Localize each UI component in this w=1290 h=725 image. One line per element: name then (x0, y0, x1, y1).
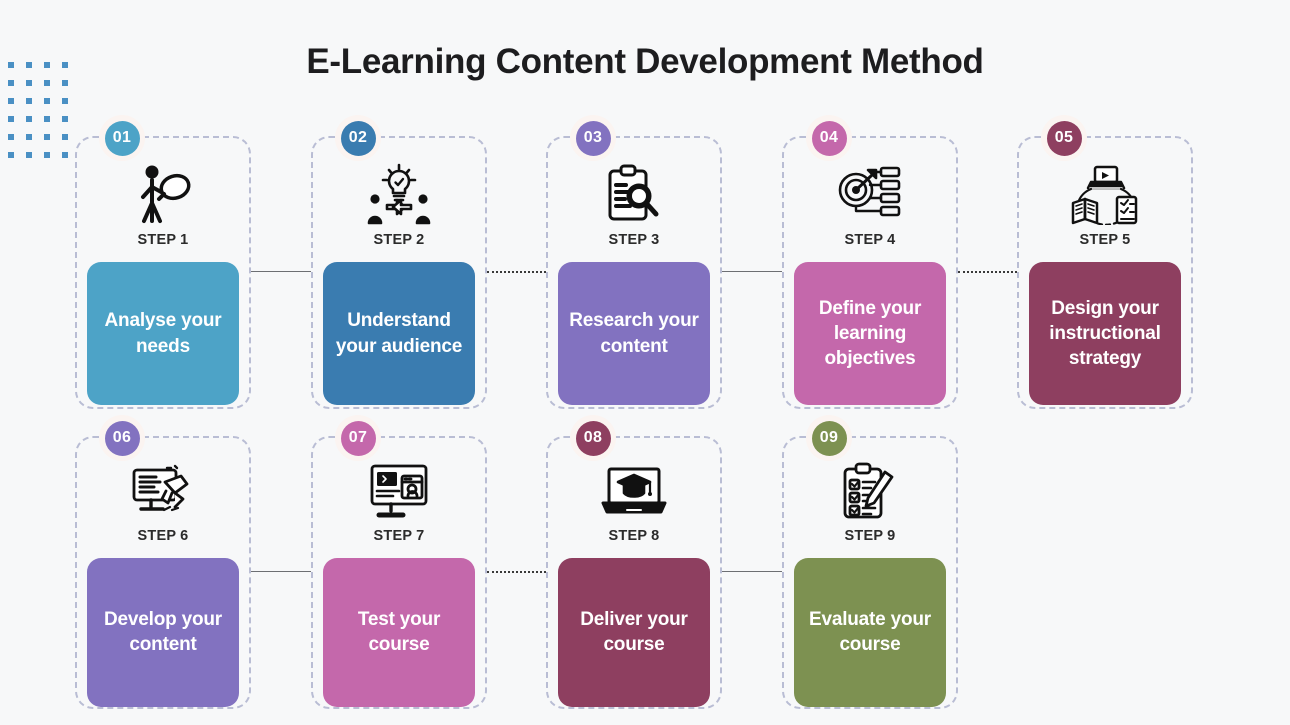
step-label: STEP 1 (138, 232, 189, 248)
lightbulb-two-people-icon (366, 158, 432, 230)
step-card-01[interactable]: 01 STEP 1Analyse your needs (75, 136, 251, 409)
clipboard-magnifier-icon (605, 158, 663, 230)
step-title-block[interactable]: Design your instructional strategy (1029, 262, 1181, 405)
person-with-magnifier-icon (133, 158, 193, 230)
step-badge-08: 08 (570, 415, 616, 461)
step-label: STEP 9 (845, 528, 896, 544)
step-title-block[interactable]: Develop your content (87, 558, 239, 707)
laptop-graduation-cap-icon (601, 458, 667, 526)
step-title-block[interactable]: Research your content (558, 262, 710, 405)
step-title-block[interactable]: Understand your audience (323, 262, 475, 405)
step-label: STEP 4 (845, 232, 896, 248)
step-card-08[interactable]: 08 STEP 8Deliver your course (546, 436, 722, 709)
step-card-07[interactable]: 07 STEP 7Test your course (311, 436, 487, 709)
step-label: STEP 2 (374, 232, 425, 248)
step-title-block[interactable]: Evaluate your course (794, 558, 946, 707)
step-badge-number: 01 (105, 121, 140, 156)
steps-board: 01 STEP 1Analyse your needs02 STEP 2Unde… (0, 0, 1290, 725)
step-label: STEP 7 (374, 528, 425, 544)
step-card-06[interactable]: 06 STEP 6Develop your content (75, 436, 251, 709)
step-badge-number: 06 (105, 421, 140, 456)
connector-line-02-to-03 (487, 271, 546, 273)
step-badge-number: 09 (812, 421, 847, 456)
laptop-book-checklist-icon (1069, 158, 1141, 230)
step-card-04[interactable]: 04 STEP 4Define your learning objectives (782, 136, 958, 409)
clipboard-check-pencil-icon (841, 458, 899, 526)
step-card-05[interactable]: 05 STEP 5Design your instructional strat… (1017, 136, 1193, 409)
step-badge-03: 03 (570, 115, 616, 161)
step-title-block[interactable]: Test your course (323, 558, 475, 707)
step-title-block[interactable]: Analyse your needs (87, 262, 239, 405)
step-badge-number: 03 (576, 121, 611, 156)
connector-line-08-to-09 (722, 571, 782, 572)
step-label: STEP 5 (1080, 232, 1131, 248)
step-label: STEP 3 (609, 232, 660, 248)
connector-line-01-to-02 (251, 271, 311, 272)
connector-line-06-to-07 (251, 571, 311, 572)
monitor-hand-write-icon (131, 458, 195, 526)
target-checklist-icon (837, 158, 903, 230)
step-badge-01: 01 (99, 115, 145, 161)
monitor-window-test-icon (369, 458, 429, 526)
step-badge-04: 04 (806, 115, 852, 161)
step-badge-number: 02 (341, 121, 376, 156)
step-badge-number: 04 (812, 121, 847, 156)
step-badge-06: 06 (99, 415, 145, 461)
connector-line-07-to-08 (487, 571, 546, 573)
step-badge-05: 05 (1041, 115, 1087, 161)
step-badge-number: 08 (576, 421, 611, 456)
step-title-block[interactable]: Deliver your course (558, 558, 710, 707)
connector-line-03-to-04 (722, 271, 782, 272)
step-card-03[interactable]: 03 STEP 3Research your content (546, 136, 722, 409)
step-badge-09: 09 (806, 415, 852, 461)
step-badge-07: 07 (335, 415, 381, 461)
step-badge-number: 05 (1047, 121, 1082, 156)
step-title-block[interactable]: Define your learning objectives (794, 262, 946, 405)
step-card-02[interactable]: 02 STEP 2Understand your audience (311, 136, 487, 409)
step-card-09[interactable]: 09 STEP 9Evaluate your course (782, 436, 958, 709)
step-label: STEP 8 (609, 528, 660, 544)
step-badge-number: 07 (341, 421, 376, 456)
connector-line-04-to-05 (958, 271, 1017, 273)
step-badge-02: 02 (335, 115, 381, 161)
step-label: STEP 6 (138, 528, 189, 544)
